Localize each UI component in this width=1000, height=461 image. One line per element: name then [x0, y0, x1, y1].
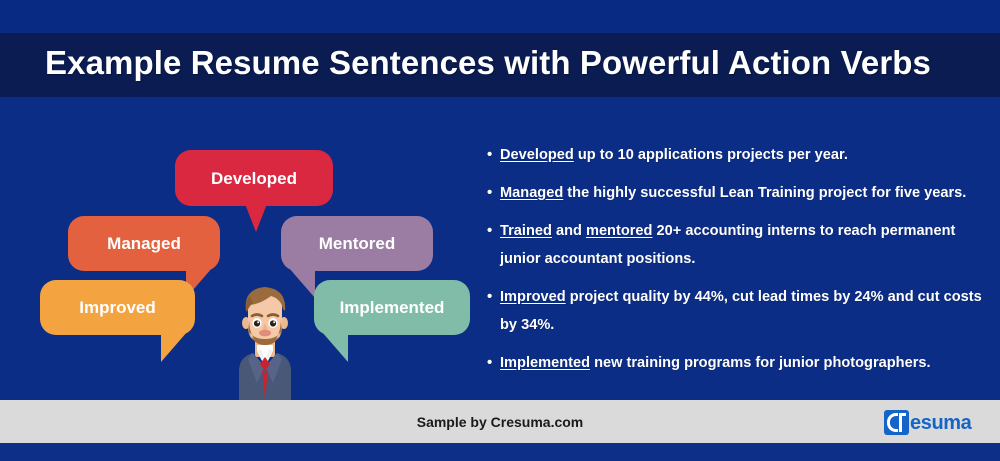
bubble-managed-label: Managed — [107, 235, 181, 252]
bullet-text: Improved project quality by 44%, cut lea… — [500, 283, 987, 339]
bubble-improved-tail — [161, 332, 187, 362]
action-verb-bullet-list: •Developed up to 10 applications project… — [487, 141, 987, 387]
cresuma-logo[interactable]: esuma — [884, 409, 971, 436]
bullet-text: Implemented new training programs for ju… — [500, 349, 987, 377]
cresuma-logo-mark-icon — [884, 410, 909, 435]
bubble-developed-tail — [245, 204, 267, 232]
action-verb-highlight: Implemented — [500, 355, 590, 371]
cresuma-logo-wordmark: esuma — [910, 413, 971, 433]
action-verb-highlight: mentored — [586, 223, 653, 239]
logo-letter-c-icon — [887, 413, 898, 432]
bullet-improved: •Improved project quality by 44%, cut le… — [487, 283, 987, 339]
bubble-managed: Managed — [68, 216, 220, 271]
bubble-implemented-label: Implemented — [340, 299, 445, 316]
bullet-text-segment: new training programs for junior photogr… — [590, 355, 931, 371]
page-title: Example Resume Sentences with Powerful A… — [45, 44, 931, 82]
action-verb-highlight: Trained — [500, 223, 552, 239]
bullet-text-segment: project quality by 44%, cut lead times b… — [500, 289, 982, 333]
poster-canvas: Example Resume Sentences with Powerful A… — [0, 0, 1000, 461]
bubble-developed: Developed — [175, 150, 333, 206]
logo-letter-r-arm-icon — [899, 413, 906, 416]
bullet-trained: •Trained and mentored 20+ accounting int… — [487, 217, 987, 273]
bullet-text: Managed the highly successful Lean Train… — [500, 179, 987, 207]
bullet-text-segment: the highly successful Lean Training proj… — [563, 185, 966, 201]
bullet-marker-icon: • — [487, 141, 500, 169]
bubble-implemented: Implemented — [314, 280, 470, 335]
bubble-improved: Improved — [40, 280, 195, 335]
action-verb-highlight: Improved — [500, 289, 566, 305]
bullet-managed: •Managed the highly successful Lean Trai… — [487, 179, 987, 207]
bottom-accent-band — [0, 443, 1000, 461]
bubble-mentored-label: Mentored — [319, 235, 396, 252]
bubble-developed-label: Developed — [211, 170, 297, 187]
top-accent-band — [0, 0, 1000, 33]
action-verb-highlight: Managed — [500, 185, 563, 201]
bullet-implemented: •Implemented new training programs for j… — [487, 349, 987, 377]
bubble-mentored: Mentored — [281, 216, 433, 271]
bubble-improved-label: Improved — [79, 299, 156, 316]
action-verb-highlight: Developed — [500, 147, 574, 163]
bullet-text-segment: up to 10 applications projects per year. — [574, 147, 848, 163]
bullet-marker-icon: • — [487, 349, 500, 377]
bubble-implemented-tail — [322, 332, 348, 362]
bullet-marker-icon: • — [487, 283, 500, 311]
bullet-text: Developed up to 10 applications projects… — [500, 141, 987, 169]
footer-caption: Sample by Cresuma.com — [0, 414, 1000, 430]
bullet-developed: •Developed up to 10 applications project… — [487, 141, 987, 169]
bullet-text: Trained and mentored 20+ accounting inte… — [500, 217, 987, 273]
avatar-businessman-icon — [219, 283, 311, 400]
bullet-marker-icon: • — [487, 179, 500, 207]
bullet-marker-icon: • — [487, 217, 500, 245]
bullet-text-segment: and — [552, 223, 586, 239]
